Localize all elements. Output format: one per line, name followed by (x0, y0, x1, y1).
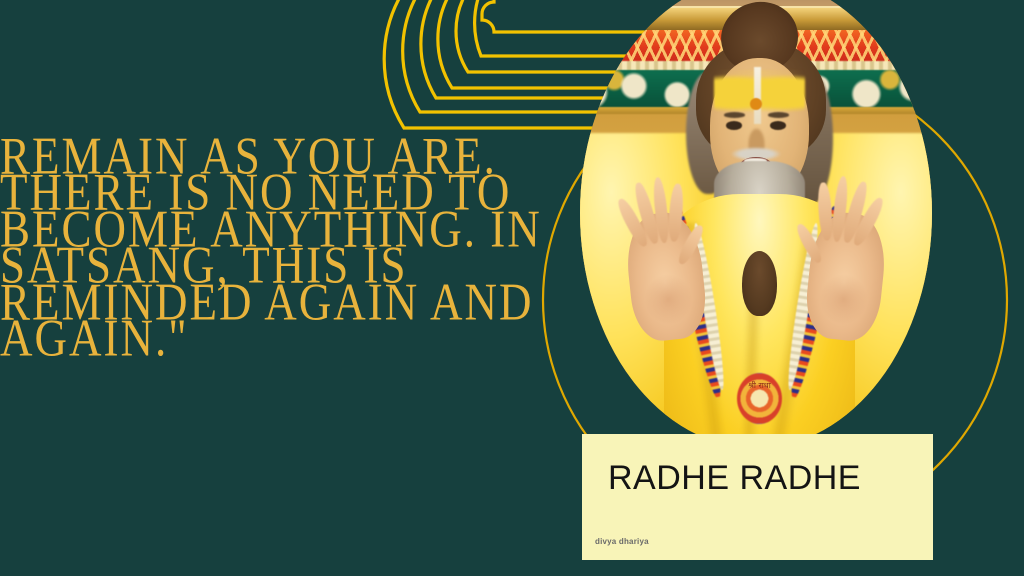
photo-eye-right (770, 121, 786, 130)
photo-brow-right (768, 112, 789, 118)
quote-block: REMAIN AS YOU ARE. THERE IS NO NEED TO B… (0, 132, 520, 350)
photo-eye-left (726, 121, 742, 130)
caption-title: RADHE RADHE (608, 459, 861, 498)
photo-brow-left (724, 112, 745, 118)
portrait-photo: श्री राधा (580, 0, 932, 448)
photo-beard-knot (742, 251, 777, 317)
caption-card: RADHE RADHE divya dhariya (582, 434, 933, 560)
slide-canvas: REMAIN AS YOU ARE. THERE IS NO NEED TO B… (0, 0, 1024, 576)
photo-medallion-text: श्री राधा (737, 382, 783, 390)
caption-credit: divya dhariya (595, 537, 649, 546)
photo-tilak-stripe (754, 67, 762, 123)
quote-line: AGAIN." (0, 314, 520, 363)
